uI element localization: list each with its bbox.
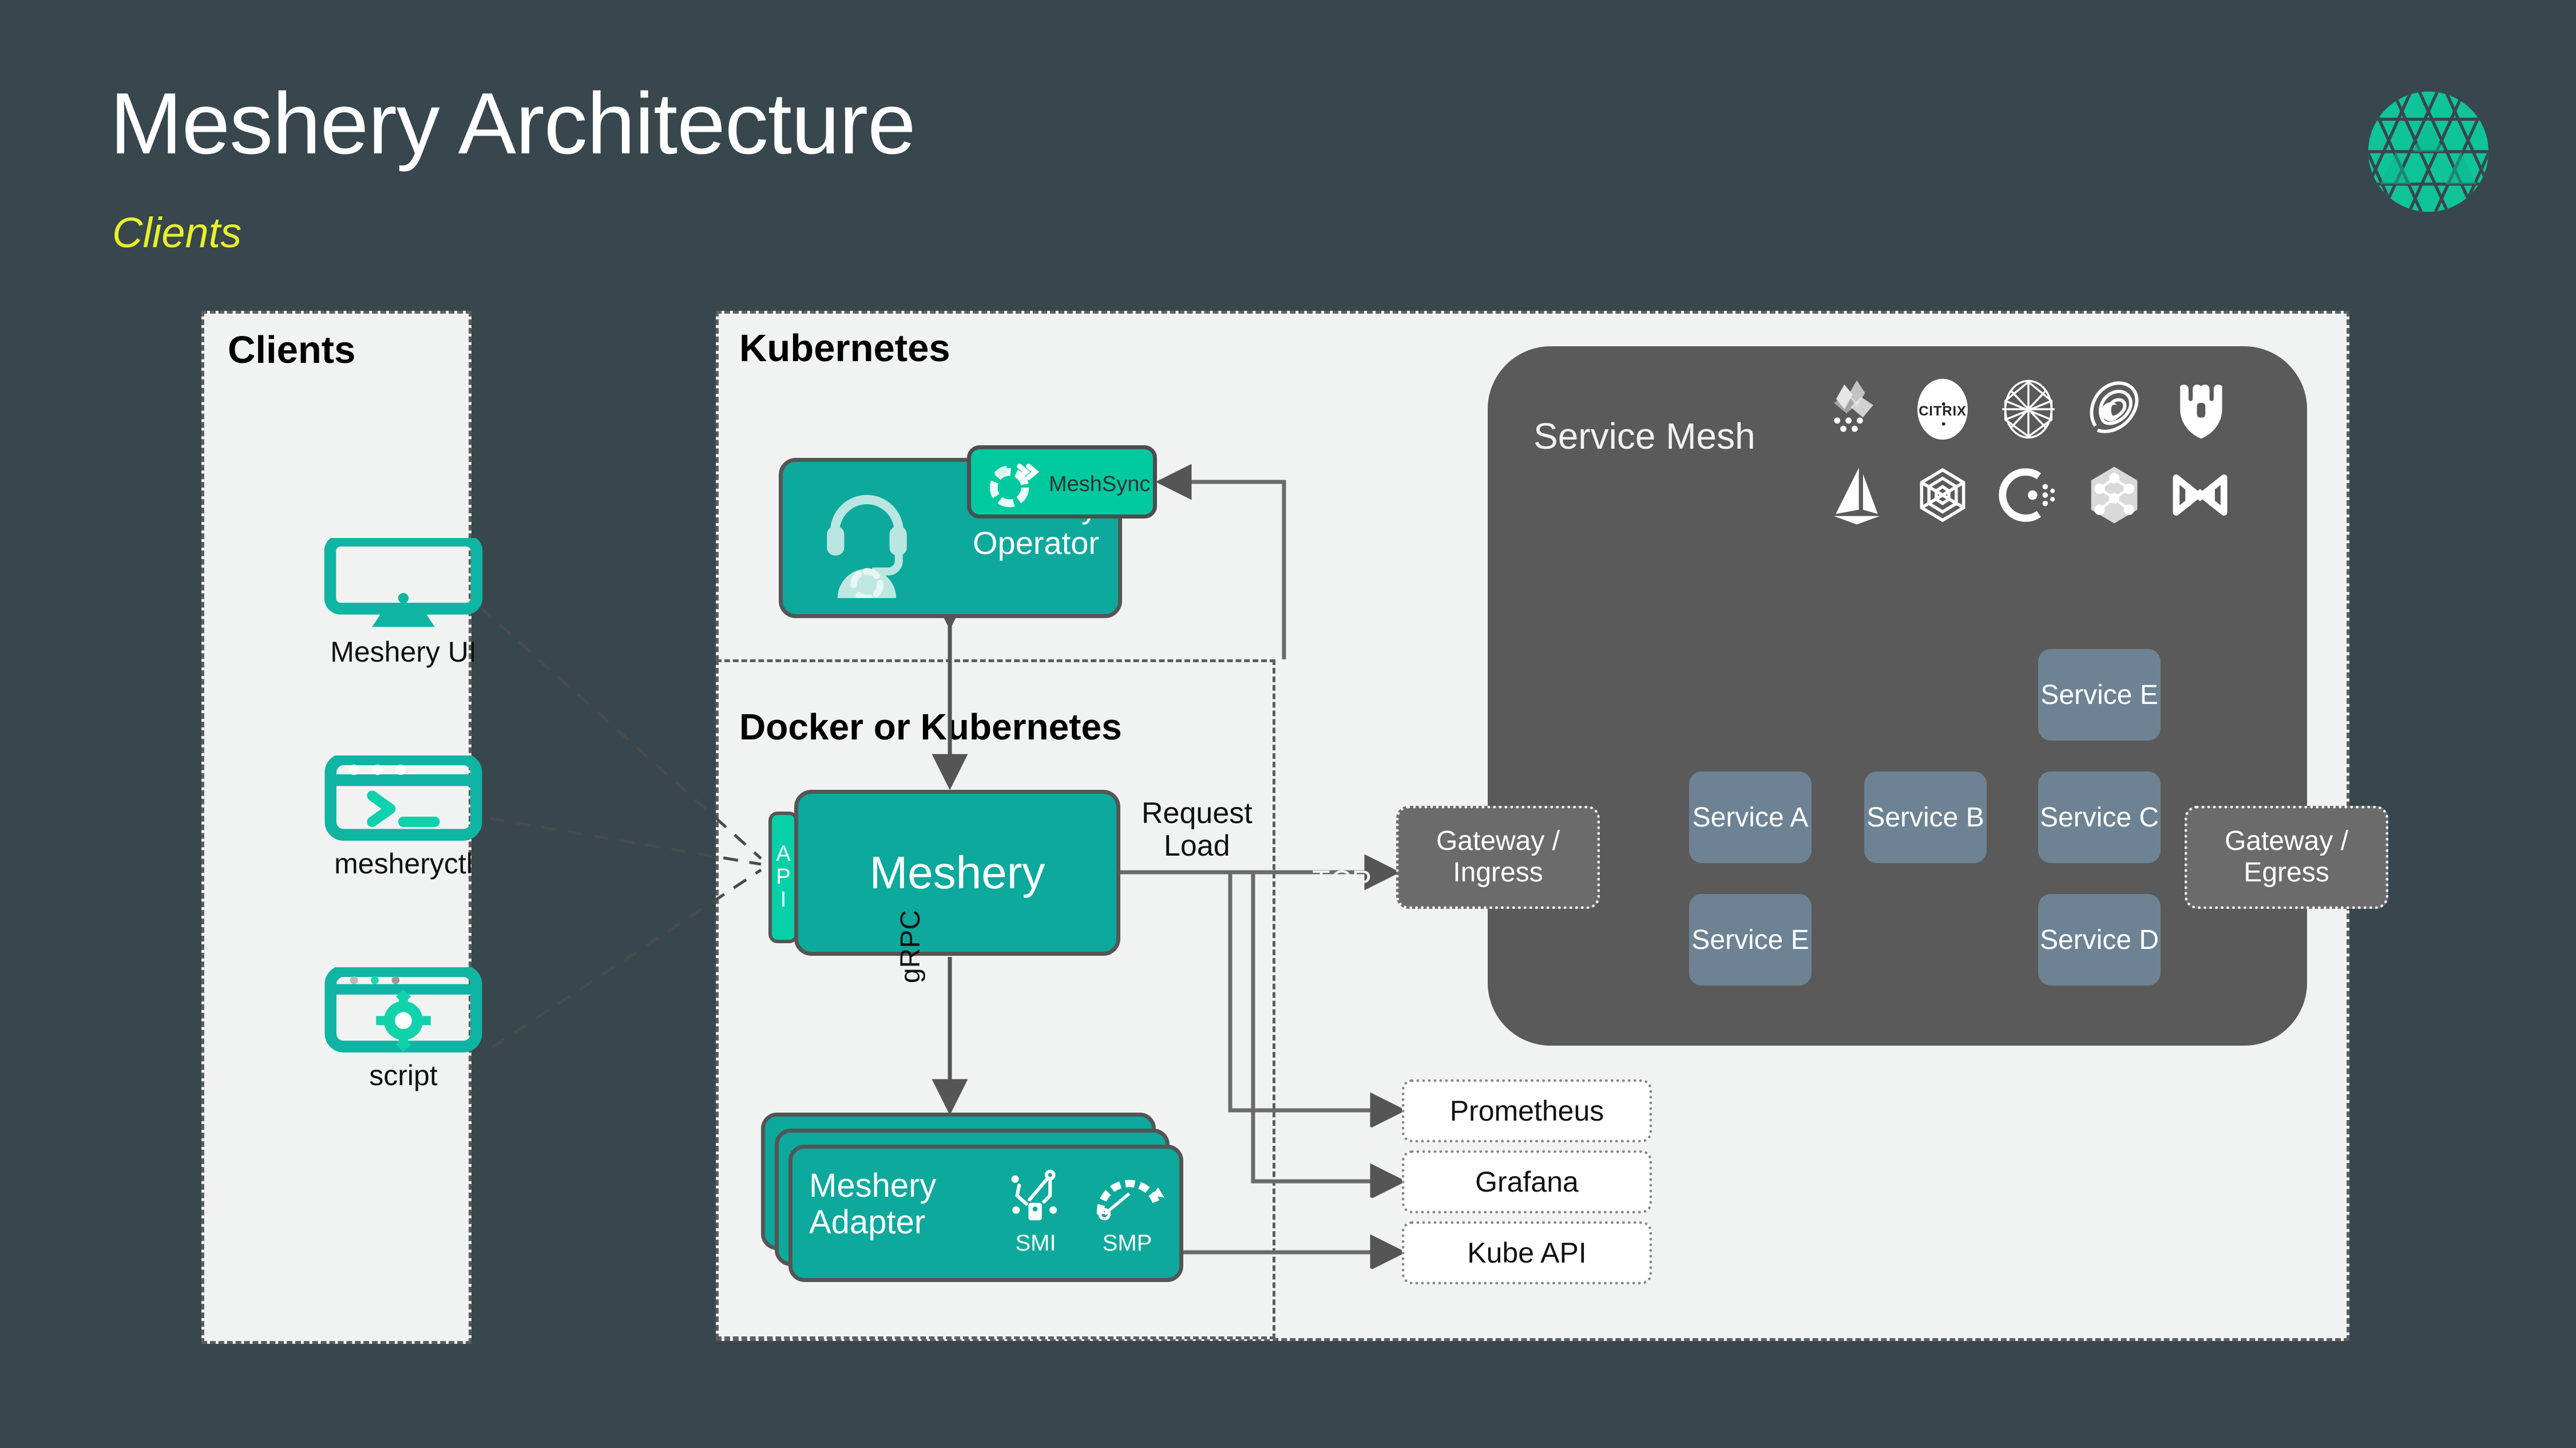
service-mesh-logos: CITRIX — [1825, 366, 2277, 538]
client-script[interactable]: script — [320, 967, 486, 1090]
sync-circle-icon — [984, 457, 1040, 516]
istio-icon — [1825, 464, 1888, 527]
api-letter-i: I — [780, 889, 787, 912]
diagram-canvas: Meshery Architecture Clients — [0, 0, 2576, 1448]
svg-text:CITRIX: CITRIX — [1919, 403, 1967, 419]
smp-badge: SMP — [1084, 1165, 1170, 1255]
clients-panel-title: Clients — [228, 331, 355, 369]
service-e-bottom-box[interactable]: Service E — [1689, 894, 1812, 986]
kube-api-box[interactable]: Kube API — [1402, 1221, 1652, 1284]
api-letter-p: P — [776, 866, 790, 889]
gear-window-icon — [323, 967, 484, 1053]
smi-badge: SMI — [1001, 1165, 1070, 1255]
service-a-box[interactable]: Service A — [1689, 772, 1812, 863]
linkerd-icon — [2169, 378, 2232, 441]
service-mesh-title: Service Mesh — [1533, 415, 1755, 457]
service-c-box[interactable]: Service C — [2038, 772, 2161, 863]
meshery-box[interactable]: Meshery — [794, 790, 1120, 956]
kuma-icon — [2083, 378, 2146, 441]
client-label: mesheryctl — [320, 849, 486, 878]
client-label: Meshery UI — [320, 638, 486, 666]
client-label: script — [320, 1061, 486, 1090]
meshery-label: Meshery — [798, 846, 1116, 899]
prometheus-box[interactable]: Prometheus — [1402, 1079, 1652, 1142]
kubernetes-panel-title: Kubernetes — [739, 329, 950, 367]
service-e-top-box[interactable]: Service E — [2038, 649, 2161, 741]
consul-icon — [1997, 378, 2060, 441]
smi-label: SMI — [1001, 1232, 1070, 1255]
client-meshery-ui[interactable]: Meshery UI — [320, 538, 486, 666]
gateway-egress-box[interactable]: Gateway /Egress — [2185, 806, 2388, 909]
traefik-mesh-icon — [2169, 464, 2232, 527]
http-label-prometheus: HTTP — [1300, 1122, 1378, 1154]
meshsync-box[interactable]: MeshSync — [967, 445, 1157, 519]
service-d-box[interactable]: Service D — [2038, 894, 2161, 986]
http-label-kubeapi: HTTP — [1300, 1263, 1378, 1296]
nginx-service-mesh-icon — [1911, 464, 1974, 527]
grafana-box[interactable]: Grafana — [1402, 1150, 1652, 1213]
grpc-label: gRPC — [896, 910, 926, 983]
meshsync-label: MeshSync — [1049, 472, 1150, 497]
request-load-label: RequestLoad — [1142, 797, 1253, 863]
service-b-box[interactable]: Service B — [1864, 772, 1987, 863]
aws-app-mesh-icon — [1825, 378, 1888, 441]
api-letter-a: A — [776, 843, 790, 866]
client-mesheryctl[interactable]: mesheryctl — [320, 755, 486, 878]
smp-label: SMP — [1084, 1232, 1170, 1255]
citrix-icon: CITRIX — [1911, 378, 1974, 441]
page-title: Meshery Architecture — [110, 80, 916, 167]
docker-panel-title: Docker or Kubernetes — [739, 709, 1122, 745]
page-subtitle: Clients — [112, 212, 241, 254]
smi-icon — [1005, 1165, 1067, 1227]
network-service-mesh-icon — [2083, 464, 2146, 527]
http-label-grafana: HTTP — [1300, 1192, 1378, 1225]
http-tcp-grpc-label: HTTP/ TCP gRPC — [1299, 833, 1385, 931]
smp-icon — [1088, 1165, 1167, 1227]
open-service-mesh-icon — [1997, 464, 2060, 527]
meshery-adapter-label: Meshery Adapter — [809, 1168, 981, 1241]
meshery-logo-icon — [2368, 92, 2488, 212]
gateway-ingress-box[interactable]: Gateway /Ingress — [1396, 806, 1600, 909]
monitor-icon — [323, 538, 484, 630]
terminal-icon — [323, 755, 484, 841]
headset-operator-icon — [813, 484, 921, 601]
